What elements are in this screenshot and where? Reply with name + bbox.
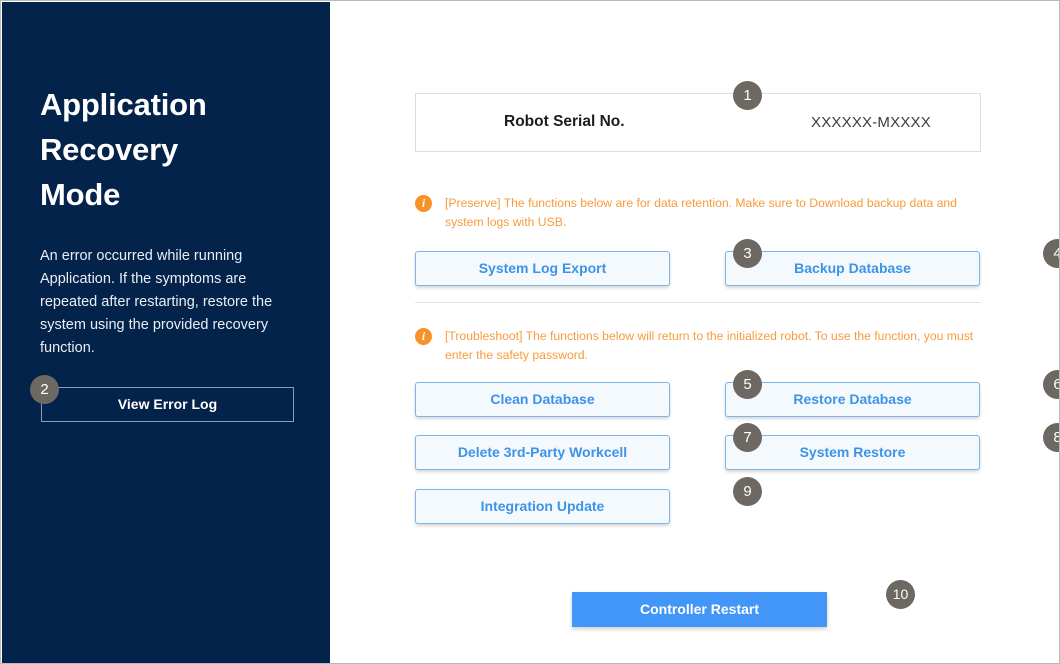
step-badge-7: 7 [733,423,762,452]
troubleshoot-notice-text: [Troubleshoot] The functions below will … [445,327,975,364]
sidebar: Application Recovery Mode An error occur… [2,2,330,664]
page-title-line-1: Application [40,82,300,127]
step-badge-2: 2 [30,375,59,404]
info-icon: i [415,195,432,212]
section-divider [415,302,981,303]
main-content: Robot Serial No. XXXXXX-MXXXX 1 i [Prese… [330,2,1058,662]
step-badge-10: 10 [886,580,915,609]
system-log-export-button[interactable]: System Log Export [415,251,670,286]
application-recovery-mode-screen: Application Recovery Mode An error occur… [0,0,1060,664]
robot-serial-panel: Robot Serial No. XXXXXX-MXXXX [415,93,981,152]
preserve-notice: i [Preserve] The functions below are for… [415,194,975,231]
info-icon: i [415,328,432,345]
page-title-line-3: Mode [40,172,300,217]
page-title-line-2: Recovery [40,127,300,172]
step-badge-9: 9 [733,477,762,506]
page-title: Application Recovery Mode [40,82,300,217]
troubleshoot-notice: i [Troubleshoot] The functions below wil… [415,327,975,364]
error-description: An error occurred while running Applicat… [40,245,292,360]
clean-database-button[interactable]: Clean Database [415,382,670,417]
preserve-notice-text: [Preserve] The functions below are for d… [445,194,975,231]
restore-database-button[interactable]: Restore Database [725,382,980,417]
step-badge-8: 8 [1043,423,1060,452]
step-badge-3: 3 [733,239,762,268]
backup-database-button[interactable]: Backup Database [725,251,980,286]
integration-update-button[interactable]: Integration Update [415,489,670,524]
step-badge-6: 6 [1043,370,1060,399]
controller-restart-button[interactable]: Controller Restart [572,592,827,627]
view-error-log-button[interactable]: View Error Log [41,387,294,422]
system-restore-button[interactable]: System Restore [725,435,980,470]
step-badge-1: 1 [733,81,762,110]
step-badge-4: 4 [1043,239,1060,268]
delete-3rd-party-workcell-button[interactable]: Delete 3rd-Party Workcell [415,435,670,470]
robot-serial-value: XXXXXX-MXXXX [811,114,931,131]
robot-serial-label: Robot Serial No. [504,113,625,131]
step-badge-5: 5 [733,370,762,399]
